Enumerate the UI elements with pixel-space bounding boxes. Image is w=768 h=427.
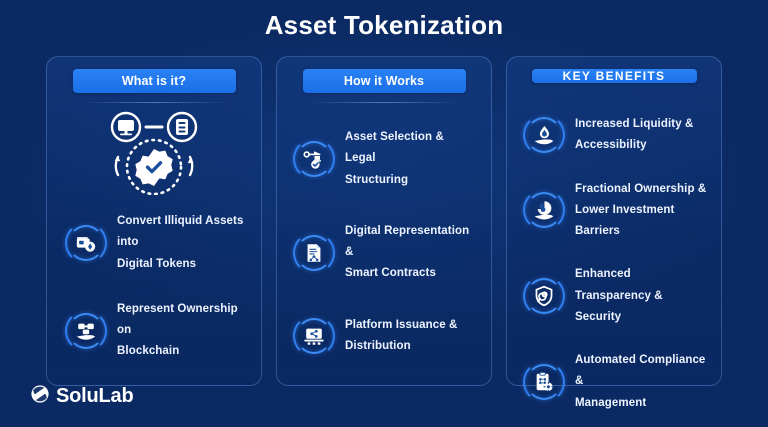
card-items-how-it-works: Asset Selection & Legal Structuring (291, 127, 477, 357)
list-item: Increased Liquidity & Accessibility (523, 114, 707, 157)
list-item-text: Platform Issuance & Distribution (345, 315, 457, 358)
liquidity-drop-hand-icon (523, 114, 565, 156)
tokenization-diagram-icon (94, 109, 214, 195)
card-badge-how-it-works: How it Works (303, 69, 466, 93)
list-item: Platform Issuance & Distribution (293, 315, 477, 358)
asset-selection-legal-icon (293, 138, 335, 180)
list-item: Enhanced Transparency & Security (523, 264, 707, 328)
smart-contract-document-icon (293, 232, 335, 274)
list-item-text: Fractional Ownership & Lower Investment … (575, 179, 707, 243)
page-title: Asset Tokenization (0, 10, 768, 41)
card-badge-key-benefits: KEY BENEFITS (532, 69, 697, 83)
card-badge-what-is-it: What is it? (73, 69, 236, 93)
badge-divider (79, 102, 229, 103)
blockchain-ownership-hand-icon (65, 310, 107, 352)
list-item: Digital Representation & Smart Contracts (293, 221, 477, 285)
list-item: Asset Selection & Legal Structuring (293, 127, 477, 191)
list-item: Convert Illiquid Assets into Digital Tok… (65, 211, 247, 275)
list-item-text: Digital Representation & Smart Contracts (345, 221, 477, 285)
platform-issuance-icon (293, 315, 335, 357)
illiquid-asset-token-icon (65, 222, 107, 264)
fractional-ownership-icon (523, 189, 565, 231)
card-items-what-is-it: Convert Illiquid Assets into Digital Tok… (61, 211, 247, 363)
solulab-mark-icon (30, 384, 50, 409)
brand-logo-text: SoluLab (56, 385, 134, 408)
list-item-text: Represent Ownership on Blockchain (117, 299, 247, 363)
cards-row: What is it? (46, 56, 722, 386)
list-item: Automated Compliance & Management (523, 350, 707, 414)
list-item-text: Automated Compliance & Management (575, 350, 707, 414)
card-what-is-it: What is it? (46, 56, 262, 386)
automated-compliance-icon (523, 361, 565, 403)
card-items-key-benefits: Increased Liquidity & Accessibility (521, 114, 707, 414)
list-item-text: Asset Selection & Legal Structuring (345, 127, 477, 191)
badge-divider (309, 102, 459, 103)
brand-logo: SoluLab (30, 384, 134, 409)
shield-security-icon (523, 275, 565, 317)
card-key-benefits: KEY BENEFITS Increased Liquidity & (506, 56, 722, 386)
list-item-text: Convert Illiquid Assets into Digital Tok… (117, 211, 247, 275)
card-how-it-works: How it Works (276, 56, 492, 386)
list-item-text: Increased Liquidity & Accessibility (575, 114, 693, 157)
list-item: Fractional Ownership & Lower Investment … (523, 179, 707, 243)
list-item: Represent Ownership on Blockchain (65, 299, 247, 363)
infographic-canvas: Asset Tokenization What is it? (0, 0, 768, 427)
list-item-text: Enhanced Transparency & Security (575, 264, 707, 328)
